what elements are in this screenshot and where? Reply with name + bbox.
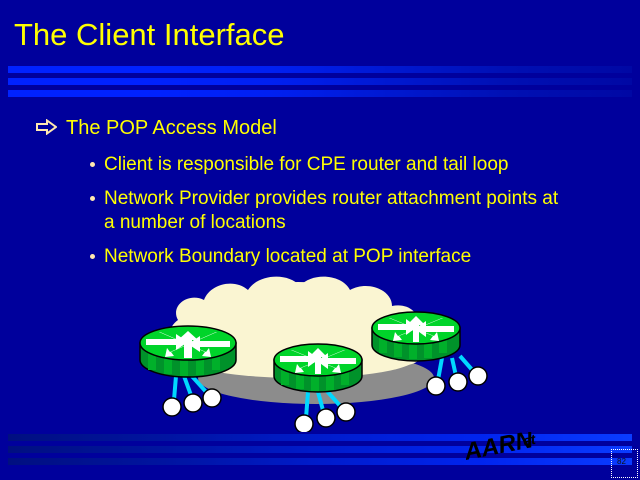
bullet-level2: Client is responsible for CPE router and…	[0, 153, 640, 177]
dot-bullet-icon	[90, 254, 95, 259]
link-node	[203, 389, 221, 407]
bullet-level2-label: Network Boundary located at POP interfac…	[104, 245, 564, 269]
slide-number: 82	[617, 457, 626, 466]
router-left	[140, 326, 236, 416]
dot-bullet-icon	[90, 162, 95, 167]
aarnet-logo: AARN et	[466, 432, 558, 466]
link-node	[184, 394, 202, 412]
bullet-level1-label: The POP Access Model	[66, 117, 277, 139]
aarnet-logo-suffix: et	[522, 432, 539, 449]
slide-title: The Client Interface	[14, 16, 285, 54]
top-decor-bars	[8, 66, 632, 102]
link-node	[337, 403, 355, 421]
link-node	[317, 409, 335, 427]
link-node	[449, 373, 467, 391]
bullet-level2-label: Network Provider provides router attachm…	[104, 187, 564, 235]
link-node	[295, 415, 313, 432]
bullet-level1: The POP Access Model	[0, 115, 640, 143]
slide-number-box: 82	[611, 449, 638, 478]
link-node	[469, 367, 487, 385]
decor-bar	[8, 90, 632, 97]
slide-body: The POP Access Model Client is responsib…	[0, 115, 640, 269]
decor-bar	[8, 66, 632, 73]
bullet-level2: Network Boundary located at POP interfac…	[0, 245, 640, 269]
bullet-level2: Network Provider provides router attachm…	[0, 187, 640, 235]
dot-bullet-icon	[90, 196, 95, 201]
arrow-right-outline-icon	[36, 119, 57, 135]
decor-bar	[8, 78, 632, 85]
link-node	[163, 398, 181, 416]
slide-canvas: The Client Interface The POP Access Mode…	[0, 0, 640, 480]
router-center	[274, 344, 362, 432]
link-node	[427, 377, 445, 395]
pop-access-network-diagram	[130, 272, 490, 432]
bullet-level2-label: Client is responsible for CPE router and…	[104, 153, 564, 177]
